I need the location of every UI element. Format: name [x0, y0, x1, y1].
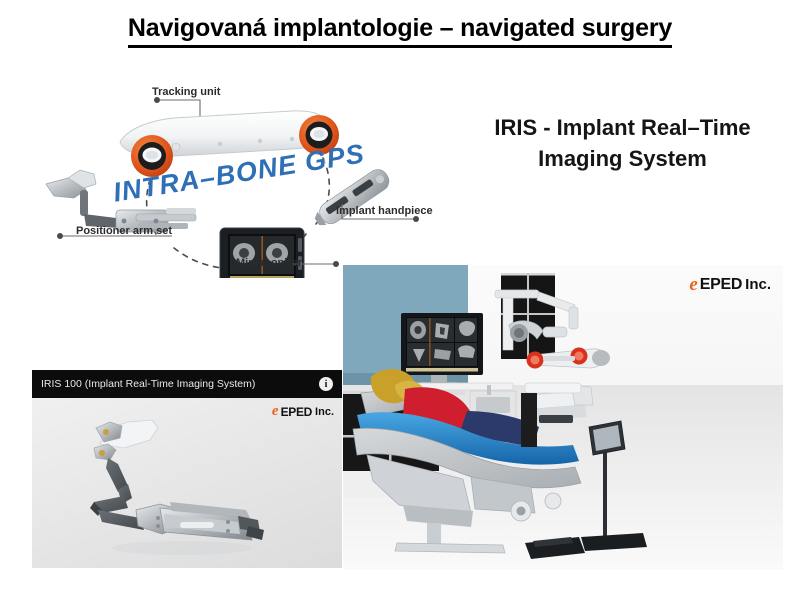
mini-monitor-device: [220, 228, 304, 278]
wall-monitor: [401, 313, 483, 385]
eped-mark-icon: e: [689, 275, 697, 294]
tracking-marker-red-left: [527, 352, 544, 369]
positioner-arm-product-render: [32, 398, 342, 568]
operatory-scene-photo: e EPED Inc.: [343, 265, 783, 570]
iris100-panel-title: IRIS 100 (Implant Real-Time Imaging Syst…: [41, 378, 319, 390]
eped-wordmark: EPED: [700, 276, 742, 294]
intra-bone-gps-diagram: Tracking unit Positioner arm set Implant…: [24, 78, 464, 278]
page-title: Navigovaná implantologie – navigated sur…: [0, 14, 800, 48]
eped-logo-photo: e EPED Inc.: [689, 275, 771, 294]
iris-heading: IRIS - Implant Real–Time Imaging System: [460, 112, 785, 174]
eped-mark-icon: e: [272, 404, 279, 419]
iris-heading-line1: IRIS - Implant Real–Time: [460, 112, 785, 143]
iris100-panel-header: IRIS 100 (Implant Real-Time Imaging Syst…: [32, 370, 342, 398]
eped-suffix: Inc.: [315, 406, 334, 418]
iris-heading-line2: Imaging System: [460, 143, 785, 174]
eped-wordmark: EPED: [281, 405, 312, 419]
monitor-ct-slices: [407, 318, 477, 366]
eped-suffix: Inc.: [745, 276, 771, 293]
label-mini-monitor: Mini monitor: [236, 257, 302, 269]
page-title-text: Navigovaná implantologie – navigated sur…: [128, 14, 672, 48]
label-tracking-unit: Tracking unit: [152, 86, 220, 98]
eped-logo-panel: e EPED Inc.: [272, 404, 334, 419]
label-implant-handpiece: Implant handpiece: [336, 205, 433, 217]
iris100-product-panel: IRIS 100 (Implant Real-Time Imaging Syst…: [32, 370, 342, 568]
tracking-marker-red-right: [571, 348, 588, 365]
operatory-illustration: [343, 265, 783, 570]
label-positioner-arm-set: Positioner arm set: [76, 225, 172, 237]
info-icon[interactable]: i: [319, 377, 333, 391]
